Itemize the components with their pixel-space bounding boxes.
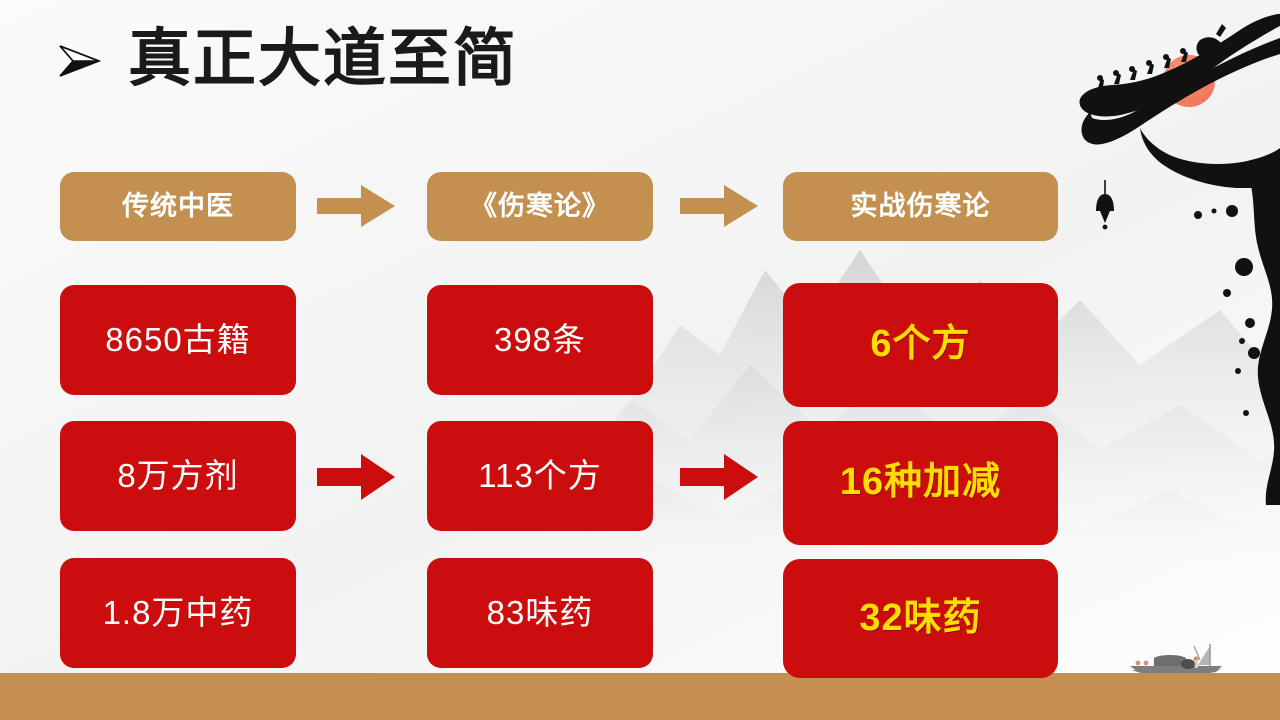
slide-canvas: 真正大道至简 传统中医 《伤寒论》 实战伤寒论 8650古籍 398条 6个方 …: [0, 0, 1280, 720]
sun-icon: [1163, 55, 1215, 107]
arrow-bullet-icon: [56, 37, 102, 83]
header-box-3[interactable]: 实战伤寒论: [783, 172, 1058, 241]
data-box-r3c1[interactable]: 1.8万中药: [60, 558, 296, 668]
data-box-r2c1[interactable]: 8万方剂: [60, 421, 296, 531]
data-box-r3c2[interactable]: 83味药: [427, 558, 653, 668]
footer-band: [0, 673, 1280, 720]
data-box-r2c2[interactable]: 113个方: [427, 421, 653, 531]
hanging-bell-icon: [1092, 180, 1118, 240]
data-box-r1c3[interactable]: 6个方: [783, 283, 1058, 407]
header-arrow-1-icon: [317, 183, 395, 229]
temple-roof-illustration: [1040, 0, 1280, 210]
page-title-text: 真正大道至简: [128, 28, 518, 91]
header-arrow-2-icon: [680, 183, 758, 229]
ink-splatter-illustration: [1180, 175, 1280, 505]
data-box-r3c3[interactable]: 32味药: [783, 559, 1058, 678]
data-box-r1c2[interactable]: 398条: [427, 285, 653, 395]
middle-arrow-2-icon: [680, 452, 758, 502]
data-box-r1c1[interactable]: 8650古籍: [60, 285, 296, 395]
header-box-1[interactable]: 传统中医: [60, 172, 296, 241]
data-box-r2c3[interactable]: 16种加减: [783, 421, 1058, 545]
header-box-2[interactable]: 《伤寒论》: [427, 172, 653, 241]
page-title: 真正大道至简: [56, 28, 518, 91]
middle-arrow-1-icon: [317, 452, 395, 502]
